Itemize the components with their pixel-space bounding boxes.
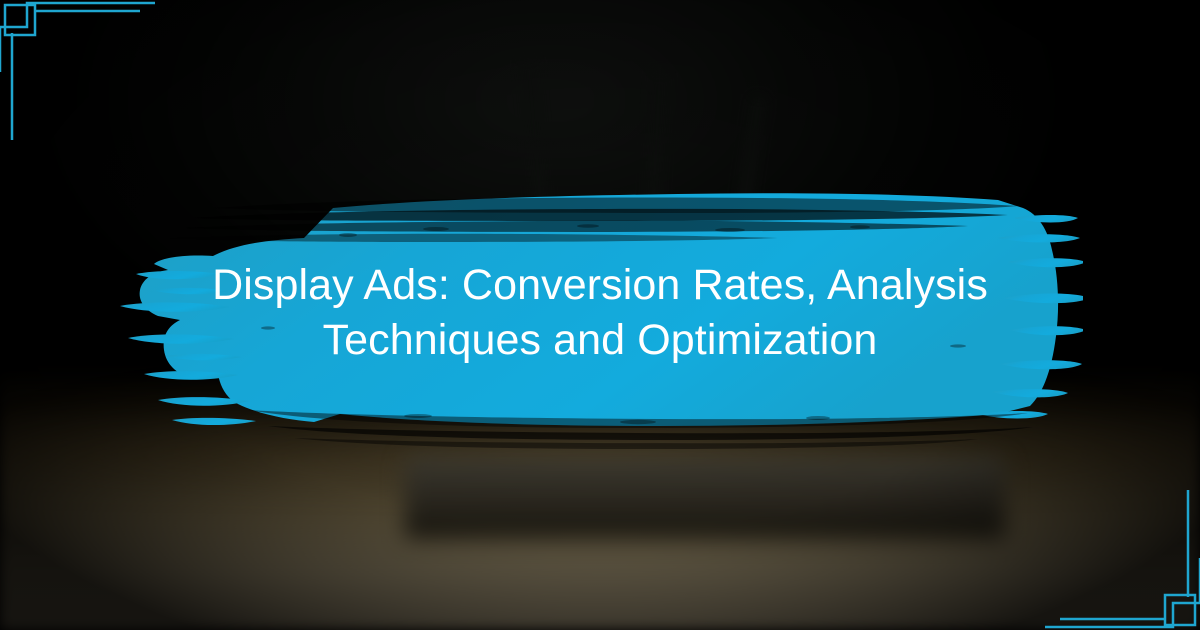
corner-bracket-icon — [1040, 470, 1200, 630]
corner-bracket-icon — [0, 0, 160, 160]
title-block: Display Ads: Conversion Rates, Analysis … — [150, 258, 1050, 368]
title-line-1: Display Ads: Conversion Rates, Analysis — [212, 261, 988, 309]
title-line-2: Techniques and Optimization — [323, 316, 878, 364]
page-title: Display Ads: Conversion Rates, Analysis … — [150, 258, 1050, 368]
social-card-canvas: Display Ads: Conversion Rates, Analysis … — [0, 0, 1200, 630]
corner-ornament-bottom-right — [1040, 470, 1200, 630]
corner-ornament-top-left — [0, 0, 160, 160]
